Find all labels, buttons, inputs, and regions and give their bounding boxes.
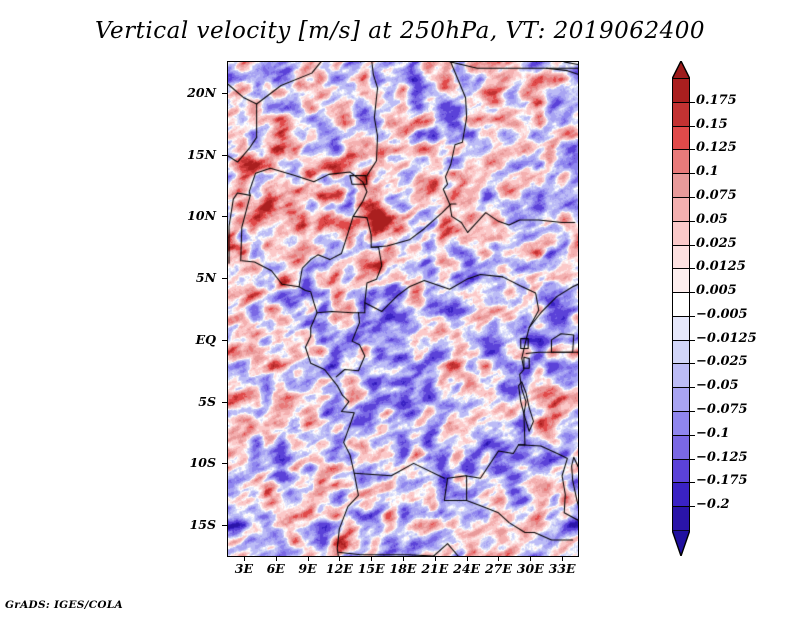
colorbar-tick-mark (690, 316, 695, 317)
colorbar-tick-label: −0.0125 (696, 331, 757, 346)
lat-tick-label: 15S (176, 517, 216, 532)
colorbar-swatch (672, 482, 690, 507)
lat-tick-mark (222, 278, 228, 279)
colorbar-swatch (672, 197, 690, 222)
colorbar-tick-label: −0.05 (696, 378, 739, 393)
colorbar-tick-label: 0.005 (696, 283, 737, 298)
colorbar-swatch (672, 387, 690, 412)
colorbar-tick-label: −0.175 (696, 473, 748, 488)
lat-tick-mark (222, 216, 228, 217)
lon-tick-mark (371, 556, 372, 561)
colorbar-tick-label: 0.175 (696, 93, 737, 108)
colorbar-tick-mark (690, 221, 695, 222)
colorbar-tick-mark (690, 387, 695, 388)
lon-tick-mark (467, 556, 468, 561)
lat-tick-label: EQ (176, 332, 216, 347)
lon-tick-mark (498, 556, 499, 561)
lat-tick-label: 20N (176, 85, 216, 100)
colorbar-swatch (672, 459, 690, 484)
colorbar-tick-label: −0.025 (696, 354, 748, 369)
colorbar-swatch (672, 363, 690, 388)
lon-tick-mark (276, 556, 277, 561)
colorbar-swatch (672, 268, 690, 293)
map-plot-area (228, 62, 578, 556)
colorbar-tick-mark (690, 149, 695, 150)
lat-tick-label: 10S (176, 455, 216, 470)
colorbar-tick-mark (690, 268, 695, 269)
colorbar-swatch (672, 221, 690, 246)
colorbar-swatch (672, 102, 690, 127)
lat-tick-mark (222, 340, 228, 341)
lat-tick-mark (222, 93, 228, 94)
lat-tick-mark (222, 525, 228, 526)
colorbar-tick-mark (690, 173, 695, 174)
colorbar-swatch (672, 435, 690, 460)
colorbar-tick-mark (690, 482, 695, 483)
colorbar-tick-label: 0.075 (696, 188, 737, 203)
vertical-velocity-heatmap (228, 62, 578, 556)
colorbar-tick-mark (690, 126, 695, 127)
colorbar-tick-label: 0.1 (696, 164, 719, 179)
colorbar-tick-mark (690, 435, 695, 436)
colorbar-swatch (672, 340, 690, 365)
colorbar-swatch (672, 126, 690, 151)
colorbar-tick-mark (690, 102, 695, 103)
page-title: Vertical velocity [m/s] at 250hPa, VT: 2… (0, 18, 800, 44)
colorbar-tick-label: 0.05 (696, 212, 728, 227)
lat-tick-mark (222, 463, 228, 464)
colorbar-tick-mark (690, 506, 695, 507)
colorbar-swatch (672, 292, 690, 317)
colorbar-tick-label: −0.005 (696, 307, 748, 322)
colorbar-tick-label: 0.0125 (696, 259, 746, 274)
lat-tick-label: 5S (176, 394, 216, 409)
lat-tick-label: 10N (176, 208, 216, 223)
colorbar-swatch (672, 173, 690, 198)
colorbar-tick-label: −0.125 (696, 450, 748, 465)
colorbar-tick-mark (690, 197, 695, 198)
colorbar-tick-label: −0.2 (696, 497, 730, 512)
colorbar-tick-label: −0.1 (696, 426, 730, 441)
lat-tick-label: 15N (176, 147, 216, 162)
lon-tick-mark (244, 556, 245, 561)
colorbar-top-cap (672, 61, 690, 79)
lat-tick-label: 5N (176, 270, 216, 285)
colorbar-tick-mark (690, 340, 695, 341)
lon-tick-mark (403, 556, 404, 561)
lon-tick-label: 33E (542, 561, 582, 576)
lat-tick-mark (222, 402, 228, 403)
colorbar-swatch (672, 149, 690, 174)
colorbar-tick-label: 0.025 (696, 236, 737, 251)
colorbar-tick-label: 0.15 (696, 117, 728, 132)
colorbar (672, 78, 690, 530)
colorbar-swatch (672, 78, 690, 103)
colorbar-swatch (672, 411, 690, 436)
colorbar-tick-mark (690, 363, 695, 364)
lon-tick-mark (562, 556, 563, 561)
colorbar-tick-mark (690, 459, 695, 460)
attribution-footer: GrADS: IGES/COLA (5, 599, 123, 611)
lon-tick-mark (308, 556, 309, 561)
colorbar-swatch (672, 506, 690, 531)
colorbar-swatch (672, 316, 690, 341)
colorbar-tick-label: 0.125 (696, 140, 737, 155)
lon-tick-mark (530, 556, 531, 561)
colorbar-bottom-cap (672, 530, 690, 556)
colorbar-swatch (672, 245, 690, 270)
colorbar-tick-mark (690, 245, 695, 246)
colorbar-tick-mark (690, 411, 695, 412)
lon-tick-mark (435, 556, 436, 561)
lon-tick-mark (339, 556, 340, 561)
colorbar-tick-mark (690, 292, 695, 293)
lat-tick-mark (222, 155, 228, 156)
colorbar-tick-label: −0.075 (696, 402, 748, 417)
